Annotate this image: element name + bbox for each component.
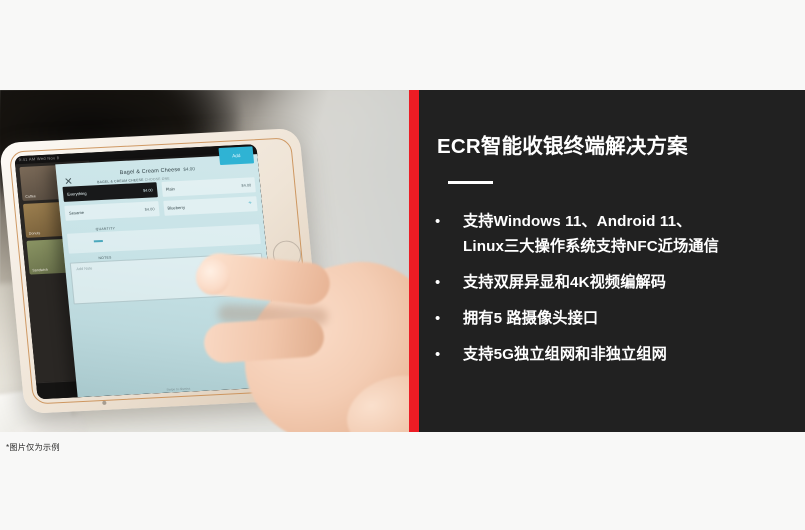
bullet-icon: •	[435, 342, 449, 367]
list-item: • 支持Windows 11、Android 11、 Linux三大操作系统支持…	[419, 209, 805, 259]
pos-option-name: Plain	[165, 186, 175, 191]
pos-modal-price: $4.00	[183, 166, 195, 172]
bullet-icon: •	[435, 270, 449, 295]
list-item-label: 支持Windows 11、Android 11、 Linux三大操作系统支持NF…	[463, 209, 719, 259]
pos-menu-tile-label: Sandwich	[32, 268, 48, 273]
feature-list: • 支持Windows 11、Android 11、 Linux三大操作系统支持…	[419, 209, 805, 378]
list-item: • 支持5G独立组网和非独立组网	[419, 342, 805, 367]
plus-icon[interactable]: +	[248, 200, 252, 206]
pos-option-name: Blueberry	[167, 204, 185, 210]
bullet-icon: •	[435, 306, 449, 331]
pos-option-price: $4.00	[144, 206, 154, 211]
product-photo: 9:41 AM Wed Nov 8 Coffee Donuts Sandwich	[0, 90, 409, 432]
list-item-label: 拥有5 路摄像头接口	[463, 306, 598, 331]
pos-add-button[interactable]: Add	[218, 146, 254, 165]
list-item-label: 支持双屏异显和4K视频编解码	[463, 270, 666, 295]
list-item-label: 支持5G独立组网和非独立组网	[463, 342, 667, 367]
pos-modal-title: Bagel & Cream Cheese	[120, 167, 181, 176]
hand-touching-screen	[196, 228, 409, 432]
pos-option-sesame[interactable]: Sesame $4.00	[64, 201, 159, 221]
pos-option-price: $4.00	[241, 182, 251, 187]
pos-menu-tile-label: Coffee	[25, 194, 36, 199]
bullet-icon: •	[435, 209, 449, 234]
slide: 9:41 AM Wed Nov 8 Coffee Donuts Sandwich	[0, 0, 805, 530]
pos-notes-placeholder: Add Note	[76, 267, 92, 272]
pos-menu-tile-label: Donuts	[29, 231, 41, 236]
list-item: • 支持双屏异显和4K视频编解码	[419, 270, 805, 295]
list-item: • 拥有5 路摄像头接口	[419, 306, 805, 331]
pos-option-everything[interactable]: Everything $4.00	[62, 182, 157, 202]
pos-option-column: Everything $4.00 Sesame $4.00	[62, 182, 159, 225]
text-panel: ECR智能收银终端解决方案 • 支持Windows 11、Android 11、…	[419, 90, 805, 432]
pos-option-column: Plain $4.00 Blueberry +	[161, 177, 258, 220]
tablet-camera-dot	[102, 401, 106, 405]
pos-option-name: Everything	[67, 190, 87, 196]
pos-option-blueberry[interactable]: Blueberry +	[163, 196, 258, 216]
minus-icon[interactable]	[94, 240, 103, 242]
middle-finger	[203, 316, 325, 364]
page-title: ECR智能收银终端解决方案	[437, 129, 688, 159]
title-underline	[448, 181, 493, 184]
pos-option-name: Sesame	[69, 209, 85, 215]
footnote: *图片仅为示例	[6, 441, 60, 453]
red-accent-divider	[409, 90, 419, 432]
pos-option-price: $4.00	[143, 187, 153, 192]
content-band: 9:41 AM Wed Nov 8 Coffee Donuts Sandwich	[0, 90, 805, 432]
pos-option-grid: Everything $4.00 Sesame $4.00	[62, 177, 258, 225]
